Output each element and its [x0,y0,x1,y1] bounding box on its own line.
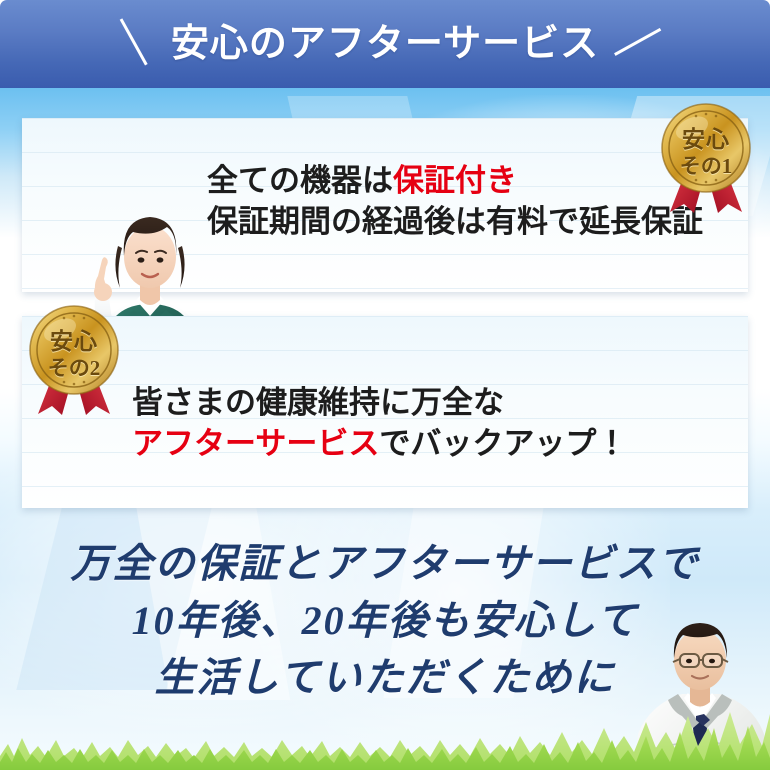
panel-2-line-2-highlight: アフターサービス [132,426,379,461]
panel-2-line-1: 皆さまの健康維持に万全な [132,382,627,423]
panel-2-line-2-seg-2: でバックアップ！ [379,426,627,461]
benefit-panel-1: 全ての機器は保証付き 保証期間の経過後は有料で延長保証 [22,118,748,292]
panel-1-text: 全ての機器は保証付き 保証期間の経過後は有料で延長保証 [207,160,703,242]
panel-1-line-1-highlight: 保証付き [393,163,517,198]
tagline-line-2: 10年後、20年後も安心して [0,593,770,650]
panel-1-line-1: 全ての機器は保証付き [207,160,703,201]
panel-1-line-1-seg-1: 全ての機器は [207,163,393,198]
page-title: 安心のアフターサービス [171,25,599,63]
tagline: 万全の保証とアフターサービスで 10年後、20年後も安心して 生活していただくた… [0,536,770,706]
panel-2-line-1-seg-1: 皆さまの健康維持に万全な [132,385,504,420]
panel-1-line-2: 保証期間の経過後は有料で延長保証 [207,201,703,242]
tagline-line-3: 生活していただくために [0,650,770,707]
benefit-panel-2: 皆さまの健康維持に万全な アフターサービスでバックアップ！ [22,316,748,508]
header-banner: ＼ 安心のアフターサービス ／ [0,0,770,88]
panel-1-line-2-seg-1: 保証期間の経過後は有料で延長保証 [207,204,703,239]
tagline-line-1: 万全の保証とアフターサービスで [0,536,770,593]
panel-2-text: 皆さまの健康維持に万全な アフターサービスでバックアップ！ [132,382,627,464]
slash-left-icon: ＼ [108,19,157,68]
slash-right-icon: ／ [612,19,661,68]
after-service-banner: ＼ 安心のアフターサービス ／ [0,0,770,770]
panel-2-line-2: アフターサービスでバックアップ！ [132,423,627,464]
